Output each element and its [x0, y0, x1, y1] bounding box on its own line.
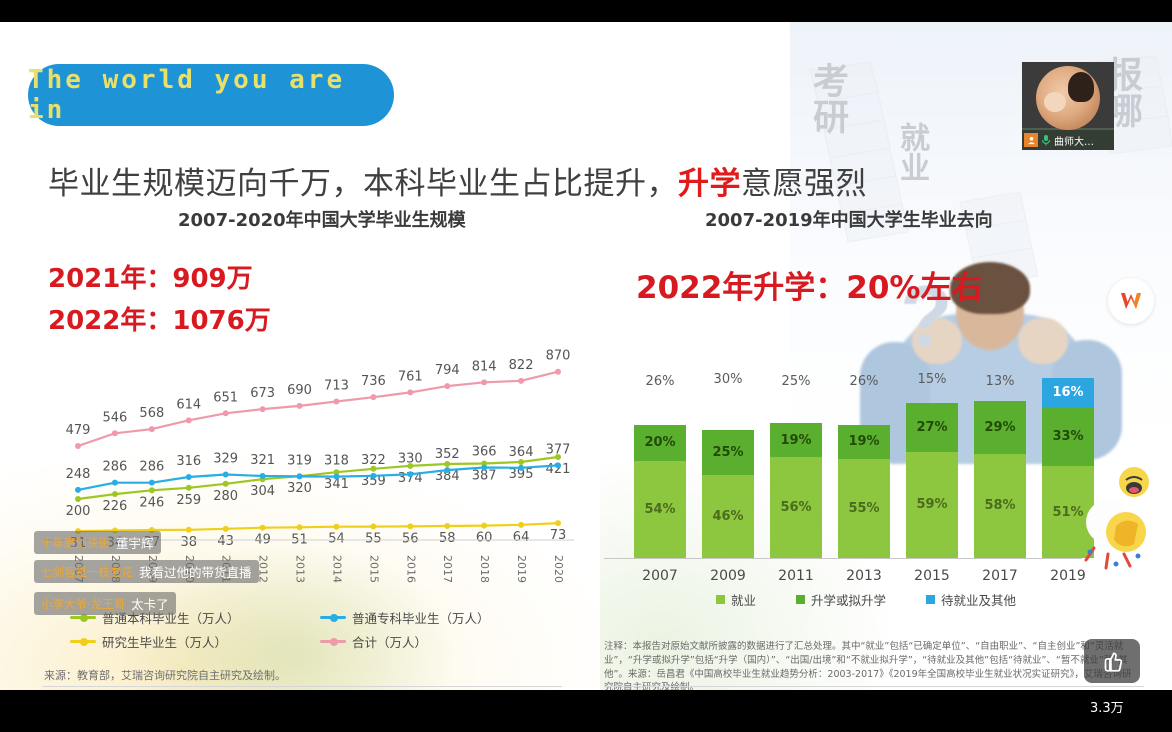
data-label: 761 [398, 369, 423, 384]
bar-segment-employed: 58% [974, 454, 1026, 558]
legend-item: 合计（万人） [320, 632, 427, 651]
legend-swatch [926, 595, 935, 604]
legend-marker [70, 616, 96, 619]
headline-highlight: 升学 [678, 166, 741, 202]
chat-author: 小李大爷·龙王哥 [41, 596, 125, 612]
data-point [444, 383, 450, 389]
legend-label: 升学或拟升学 [811, 590, 886, 609]
bar-chart-legend: 就业升学或拟升学待就业及其他 [716, 590, 1016, 609]
data-label: 38 [180, 535, 197, 550]
bar-segment-employed: 51% [1042, 466, 1094, 558]
bar-stack: 29%58% [974, 401, 1026, 558]
slide-headline: 毕业生规模迈向千万，本科毕业生占比提升，升学意愿强烈 [48, 158, 867, 203]
bar-stack: 20%54% [634, 425, 686, 558]
bar-top-label: 26% [634, 374, 686, 389]
bar-x-label: 2015 [906, 568, 958, 584]
data-point [186, 527, 192, 533]
bar-segment-employed: 59% [906, 452, 958, 558]
data-label: 318 [324, 454, 349, 469]
legend-label: 就业 [731, 590, 756, 609]
callout-2022: 2022年：1076万 [48, 300, 271, 337]
data-label: 73 [550, 528, 567, 543]
webcam-name-bar: 曲师大… [1022, 130, 1114, 150]
legend-item: 待就业及其他 [926, 590, 1016, 609]
data-point [260, 525, 266, 531]
chat-message: 十年磨剑侠影 董宇辉 [34, 531, 161, 554]
data-point [370, 394, 376, 400]
stream-stage: 考研 就业 报哪 ? The world you are in 毕业生规模迈向千… [0, 0, 1172, 732]
left-source-note: 来源：教育部，艾瑞咨询研究院自主研究及绘制。 [44, 667, 286, 683]
data-label: 870 [546, 349, 571, 364]
data-point [407, 389, 413, 395]
bar-top-label: 30% [702, 372, 754, 387]
data-label: 736 [361, 374, 386, 389]
right-footer-rule [604, 686, 1144, 687]
chat-message: 小李大爷·龙王哥 太卡了 [34, 592, 176, 615]
bar-segment-further-study: 33% [1042, 407, 1094, 466]
slide-title-text: The world you are in [28, 65, 394, 125]
x-tick-label: 2017 [441, 555, 454, 583]
presenter-avatar [1036, 66, 1100, 130]
bar-top-label: 25% [770, 374, 822, 389]
bar-x-label: 2019 [1042, 568, 1094, 584]
data-point [481, 379, 487, 385]
chat-text: 太卡了 [131, 594, 169, 613]
data-point [555, 462, 561, 468]
data-label: 64 [513, 530, 530, 545]
bar-chart-axis-line [604, 558, 1082, 559]
data-point [260, 406, 266, 412]
legend-item: 研究生毕业生（万人） [70, 632, 227, 651]
slide-title-pill: The world you are in [28, 64, 394, 126]
bar-stack: 19%55% [838, 425, 890, 558]
data-point [112, 430, 118, 436]
data-point [223, 410, 229, 416]
bg-word-jiuye: 就业 [896, 122, 926, 182]
data-point [407, 471, 413, 477]
data-point [444, 467, 450, 473]
like-count: 3.3万 [1090, 697, 1124, 716]
legend-marker [70, 640, 96, 643]
callout-2021: 2021年：909万 [48, 258, 253, 295]
data-point [112, 480, 118, 486]
data-label: 286 [103, 460, 128, 475]
right-chart-subtitle: 2007-2019年中国大学生毕业去向 [705, 206, 993, 232]
data-point [370, 473, 376, 479]
data-point [75, 496, 81, 502]
bar-segment-further-study: 19% [838, 425, 890, 459]
bar-segment-employed: 54% [634, 461, 686, 558]
data-label: 479 [66, 423, 91, 438]
data-point [333, 474, 339, 480]
bar-segment-further-study: 20% [634, 425, 686, 461]
legend-label: 普通专科毕业生（万人） [352, 608, 490, 627]
legend-marker [320, 640, 346, 643]
data-point [297, 524, 303, 530]
data-label: 321 [250, 453, 275, 468]
data-label: 814 [472, 359, 497, 374]
data-point [260, 473, 266, 479]
bar-segment-employed: 55% [838, 459, 890, 558]
avatar-hand [1044, 92, 1066, 112]
data-label: 58 [439, 531, 456, 546]
bar-top-label: 13% [974, 374, 1026, 389]
data-label: 673 [250, 386, 275, 401]
data-point [149, 426, 155, 432]
right-note: 注释：本报告对原始文献所披露的数据进行了汇总处理。其中“就业”包括“已确定单位”… [604, 640, 1134, 690]
bar-x-label: 2011 [770, 568, 822, 584]
chat-author: 七剑客是一枝老花 [41, 564, 133, 580]
data-label: 352 [435, 447, 460, 462]
data-label: 56 [402, 531, 419, 546]
bar-stack: 27%59% [906, 403, 958, 558]
data-point [333, 399, 339, 405]
chat-author: 十年磨剑侠影 [41, 535, 110, 551]
bar-group: 30%25%46%2009 [702, 430, 754, 558]
bar-segment-further-study: 25% [702, 430, 754, 475]
data-label: 226 [103, 499, 128, 514]
data-label: 330 [398, 451, 423, 466]
chat-text: 我看过他的带货直播 [139, 562, 252, 581]
data-label: 651 [213, 390, 238, 405]
x-tick-label: 2016 [404, 555, 417, 583]
left-footer-rule [42, 686, 562, 687]
data-label: 280 [213, 489, 238, 504]
bar-segment-further-study: 29% [974, 401, 1026, 453]
bar-x-label: 2013 [838, 568, 890, 584]
data-label: 43 [217, 534, 234, 549]
data-point [149, 480, 155, 486]
presenter-name: 曲师大… [1054, 133, 1094, 148]
x-tick-label: 2018 [478, 555, 491, 583]
bar-group: 15%27%59%2015 [906, 403, 958, 558]
bar-stack: 25%46% [702, 430, 754, 558]
bar-group: 26%19%55%2013 [838, 425, 890, 558]
data-point [407, 523, 413, 529]
data-label: 329 [213, 451, 238, 466]
bar-segment-other: 16% [1042, 378, 1094, 407]
line-chart-svg: 2002262462592803043203413593743843873954… [36, 340, 576, 555]
bar-segment-employed: 46% [702, 475, 754, 558]
data-label: 304 [250, 484, 275, 499]
thumbs-up-icon [1099, 648, 1125, 674]
data-label: 320 [287, 481, 312, 496]
data-point [186, 485, 192, 491]
data-point [518, 465, 524, 471]
legend-item: 普通专科毕业生（万人） [320, 608, 490, 627]
data-point [370, 524, 376, 530]
data-label: 794 [435, 363, 460, 378]
bar-segment-further-study: 27% [906, 403, 958, 452]
bar-x-label: 2007 [634, 568, 686, 584]
data-point [297, 403, 303, 409]
legend-label: 待就业及其他 [941, 590, 1016, 609]
data-label: 568 [139, 406, 164, 421]
legend-swatch [796, 595, 805, 604]
bar-segment-employed: 56% [770, 457, 822, 558]
data-label: 286 [139, 460, 164, 475]
chat-message: 七剑客是一枝老花 我看过他的带货直播 [34, 560, 259, 583]
callout-2022-shengxue: 2022年升学：20%左右 [636, 262, 982, 307]
x-tick-label: 2013 [294, 555, 307, 583]
avatar-hair [1068, 72, 1094, 102]
legend-item: 就业 [716, 590, 756, 609]
x-tick-label: 2019 [515, 555, 528, 583]
data-label: 366 [472, 444, 497, 459]
data-label: 364 [509, 445, 534, 460]
data-point [186, 474, 192, 480]
data-label: 248 [66, 467, 91, 482]
bg-word-kaoyan: 考研 [810, 62, 846, 134]
like-button[interactable] [1084, 639, 1140, 683]
headline-post: 意愿强烈 [741, 166, 867, 202]
data-point [297, 473, 303, 479]
data-point [149, 487, 155, 493]
presentation-slide: 考研 就业 报哪 ? The world you are in 毕业生规模迈向千… [0, 22, 1172, 690]
data-point [333, 524, 339, 530]
user-icon [1024, 133, 1038, 147]
data-label: 377 [546, 442, 571, 457]
bar-segment-further-study: 19% [770, 423, 822, 457]
bar-stack: 19%56% [770, 423, 822, 558]
graduate-scale-line-chart: 2002262462592803043203413593743843873954… [36, 340, 576, 555]
bar-group: 25%19%56%2011 [770, 423, 822, 558]
bar-top-label: 15% [906, 372, 958, 387]
data-point [481, 464, 487, 470]
data-label: 259 [176, 493, 201, 508]
microphone-icon [1041, 134, 1051, 146]
wps-logo-icon [1108, 278, 1154, 324]
legend-item: 升学或拟升学 [796, 590, 886, 609]
data-label: 246 [139, 495, 164, 510]
legend-label: 研究生毕业生（万人） [102, 632, 227, 651]
data-label: 322 [361, 453, 386, 468]
x-tick-label: 2015 [367, 555, 380, 583]
legend-label: 合计（万人） [352, 632, 427, 651]
left-chart-subtitle: 2007-2020年中国大学毕业生规模 [178, 206, 466, 232]
data-point [112, 491, 118, 497]
data-point [518, 378, 524, 384]
bar-x-label: 2017 [974, 568, 1026, 584]
x-tick-label: 2020 [552, 555, 565, 583]
chat-text: 董宇辉 [116, 533, 154, 552]
bar-x-label: 2009 [702, 568, 754, 584]
data-point [75, 443, 81, 449]
bar-group: 16%33%51%2019 [1042, 378, 1094, 558]
data-label: 546 [103, 410, 128, 425]
x-tick-label: 2014 [330, 555, 343, 583]
headline-pre: 毕业生规模迈向千万，本科毕业生占比提升， [48, 166, 678, 202]
data-point [555, 369, 561, 375]
data-label: 316 [176, 454, 201, 469]
presenter-webcam-tile[interactable]: 曲师大… [1022, 62, 1114, 150]
data-point [223, 471, 229, 477]
legend-marker [320, 616, 346, 619]
bar-top-label: 26% [838, 374, 890, 389]
graduate-destination-bar-chart: 26%20%54%200730%25%46%200925%19%56%20112… [604, 352, 1104, 584]
data-point [518, 522, 524, 528]
bar-stack: 16%33%51% [1042, 378, 1094, 558]
data-point [481, 523, 487, 529]
data-label: 54 [328, 532, 345, 547]
legend-swatch [716, 595, 725, 604]
data-label: 319 [287, 453, 312, 468]
data-point [444, 523, 450, 529]
data-label: 55 [365, 532, 382, 547]
data-label: 822 [509, 358, 534, 373]
data-point [223, 481, 229, 487]
data-label: 690 [287, 383, 312, 398]
data-label: 387 [472, 468, 497, 483]
bar-group: 13%29%58%2017 [974, 401, 1026, 558]
x-tick-label: 2012 [257, 555, 270, 583]
data-label: 200 [66, 504, 91, 519]
data-point [223, 526, 229, 532]
data-label: 614 [176, 397, 201, 412]
data-point [186, 417, 192, 423]
data-point [555, 520, 561, 526]
data-label: 60 [476, 531, 493, 546]
bar-group: 26%20%54%2007 [634, 425, 686, 558]
data-label: 713 [324, 379, 349, 394]
data-point [75, 487, 81, 493]
data-point [518, 459, 524, 465]
